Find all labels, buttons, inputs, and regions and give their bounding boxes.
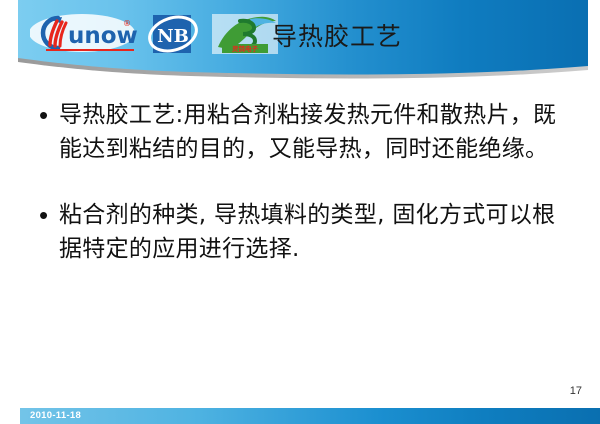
logo-row: unow ® NB xyxy=(30,10,280,58)
green-logo-caption: 灵鸽电子 xyxy=(232,44,259,53)
nb-wordmark: NB xyxy=(157,26,189,47)
slide-body: • 导热胶工艺:用粘合剂粘接发热元件和散热片，既能达到粘结的目的，又能导热，同时… xyxy=(34,98,574,298)
footer-date: 2010-11-18 xyxy=(30,409,81,423)
bullet-item: • 导热胶工艺:用粘合剂粘接发热元件和散热片，既能达到粘结的目的，又能导热，同时… xyxy=(34,98,574,166)
bullet-text: 导热胶工艺:用粘合剂粘接发热元件和散热片，既能达到粘结的目的，又能导热，同时还能… xyxy=(59,98,574,166)
bullet-text: 粘合剂的种类, 导热填料的类型, 固化方式可以根据特定的应用进行选择. xyxy=(59,198,574,266)
page-number: 17 xyxy=(570,385,582,397)
page-title: 导热胶工艺 xyxy=(272,22,402,52)
bullet-marker-icon: • xyxy=(34,98,59,132)
sunow-logo: unow ® xyxy=(30,11,138,57)
nb-logo: NB xyxy=(146,11,202,57)
footer-bar: 2010-11-18 xyxy=(20,408,600,424)
sunow-trademark-icon: ® xyxy=(123,19,131,28)
green-electronics-logo: 灵鸽电子 xyxy=(210,11,280,57)
slide-canvas: unow ® NB xyxy=(0,0,600,424)
bullet-item: • 粘合剂的种类, 导热填料的类型, 固化方式可以根据特定的应用进行选择. xyxy=(34,198,574,266)
bullet-marker-icon: • xyxy=(34,198,59,232)
